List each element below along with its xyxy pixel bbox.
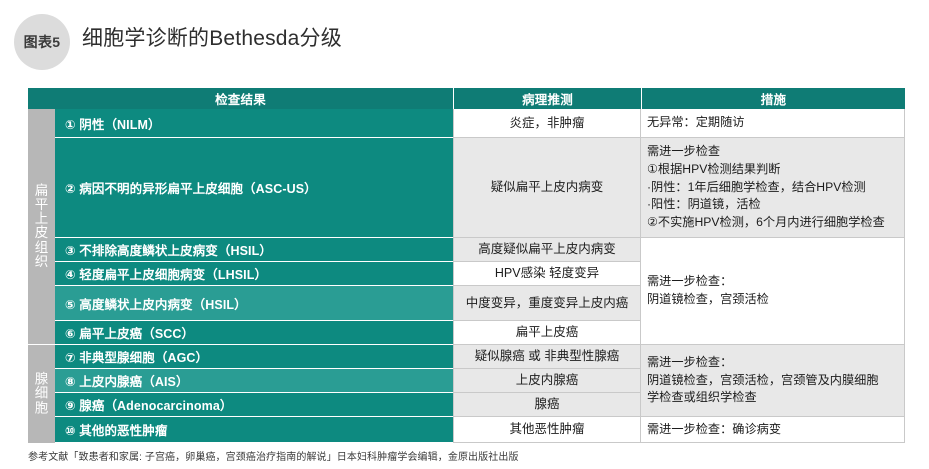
gchar: 织 — [28, 255, 55, 269]
table-row: ⑧ 上皮内腺癌（AIS） — [55, 369, 453, 393]
table-row: ③ 不排除高度鳞状上皮病变（HSIL） — [55, 238, 453, 262]
figure-badge-label: 图表5 — [14, 14, 70, 70]
pathology-cell: 腺癌 — [453, 393, 641, 417]
pathology-cell: 上皮内腺癌 — [453, 369, 641, 393]
table-row: ② 病因不明的异形扁平上皮细胞（ASC-US） — [55, 138, 453, 238]
measure-cell: 无异常：定期随访 — [641, 109, 905, 138]
measure-line: 阴道镜检查，宫颈活检 — [647, 291, 898, 309]
measure-line: 需进一步检查： — [647, 354, 898, 372]
measure-line: ·阴性：1年后细胞学检查，结合HPV检测 — [647, 179, 898, 197]
gchar: 胞 — [28, 401, 55, 415]
table-row: ④ 轻度扁平上皮细胞病变（LHSIL） — [55, 262, 453, 286]
page-title: 细胞学诊断的Bethesda分级 — [82, 22, 342, 52]
gchar: 上 — [28, 212, 55, 226]
pathology-cell: HPV感染 轻度变异 — [453, 262, 641, 286]
column-header-pathology: 病理推测 — [453, 88, 641, 109]
table-grid: 检查结果 病理推测 措施 扁 平 上 皮 组 织 腺 细 胞 ① 阴性（NILM… — [28, 88, 905, 443]
footnote: 参考文献「致患者和家属: 子宫癌，卵巢癌，宫颈癌治疗指南的解说」日本妇科肿瘤学会… — [28, 448, 519, 463]
gchar: 扁 — [28, 184, 55, 198]
table-row: ⑤ 高度鳞状上皮内病变（HSIL） — [55, 286, 453, 321]
pathology-line: 上皮内癌 — [578, 295, 628, 312]
group-label-squamous-text: 扁 平 上 皮 组 织 — [28, 184, 55, 270]
measure-line: ②不实施HPV检测，6个月内进行细胞学检查 — [647, 214, 898, 232]
measure-cell: 需进一步检查：确诊病变 — [641, 417, 905, 443]
pathology-cell: 炎症，非肿瘤 — [453, 109, 641, 138]
gchar: 腺 — [28, 373, 55, 387]
measure-line: 需进一步检查：确诊病变 — [647, 421, 898, 439]
table-row: ⑦ 非典型腺细胞（AGC） — [55, 345, 453, 369]
measure-line: 阴道镜检查，宫颈活检，宫颈管及内膜细胞 — [647, 372, 898, 390]
measure-line: 需进一步检查 — [647, 143, 898, 161]
pathology-cell: 高度疑似扁平上皮内病变 — [453, 238, 641, 262]
gchar: 皮 — [28, 227, 55, 241]
bethesda-table: 检查结果 病理推测 措施 扁 平 上 皮 组 织 腺 细 胞 ① 阴性（NILM… — [28, 88, 905, 443]
pathology-cell: 疑似腺癌 或 非典型性腺癌 — [453, 345, 641, 369]
measure-line: ·阳性：阴道镜，活检 — [647, 196, 898, 214]
group-label-squamous: 扁 平 上 皮 组 织 — [28, 109, 55, 344]
measure-line: 学检查或组织学检查 — [647, 389, 898, 407]
measure-cell: 需进一步检查： 阴道镜检查，宫颈活检 — [641, 238, 905, 345]
gchar: 组 — [28, 241, 55, 255]
table-row: ⑨ 腺癌（Adenocarcinoma） — [55, 393, 453, 417]
table-row: ⑥ 扁平上皮癌（SCC） — [55, 321, 453, 345]
measure-cell: 需进一步检查： 阴道镜检查，宫颈活检，宫颈管及内膜细胞 学检查或组织学检查 — [641, 345, 905, 417]
measure-line: ①根据HPV检测结果判断 — [647, 161, 898, 179]
measure-line: 无异常：定期随访 — [647, 114, 898, 132]
pathology-cell: 中度变异，重度变异 上皮内癌 — [453, 286, 641, 321]
group-label-glandular-text: 腺 细 胞 — [28, 373, 55, 416]
pathology-cell: 疑似扁平上皮内病变 — [453, 138, 641, 238]
measure-cell: 需进一步检查 ①根据HPV检测结果判断 ·阴性：1年后细胞学检查，结合HPV检测… — [641, 138, 905, 238]
measure-line: 需进一步检查： — [647, 273, 898, 291]
table-row: ① 阴性（NILM） — [55, 109, 453, 138]
pathology-cell: 扁平上皮癌 — [453, 321, 641, 345]
gchar: 平 — [28, 198, 55, 212]
column-header-measures: 措施 — [641, 88, 905, 109]
pathology-cell: 其他恶性肿瘤 — [453, 417, 641, 443]
title-area: 图表5 细胞学诊断的Bethesda分级 — [0, 0, 929, 78]
table-row: ⑩ 其他的恶性肿瘤 — [55, 417, 453, 443]
pathology-line: 中度变异，重度变异 — [466, 295, 579, 312]
gchar: 细 — [28, 387, 55, 401]
group-label-glandular: 腺 细 胞 — [28, 345, 55, 443]
column-header-result: 检查结果 — [28, 88, 453, 109]
